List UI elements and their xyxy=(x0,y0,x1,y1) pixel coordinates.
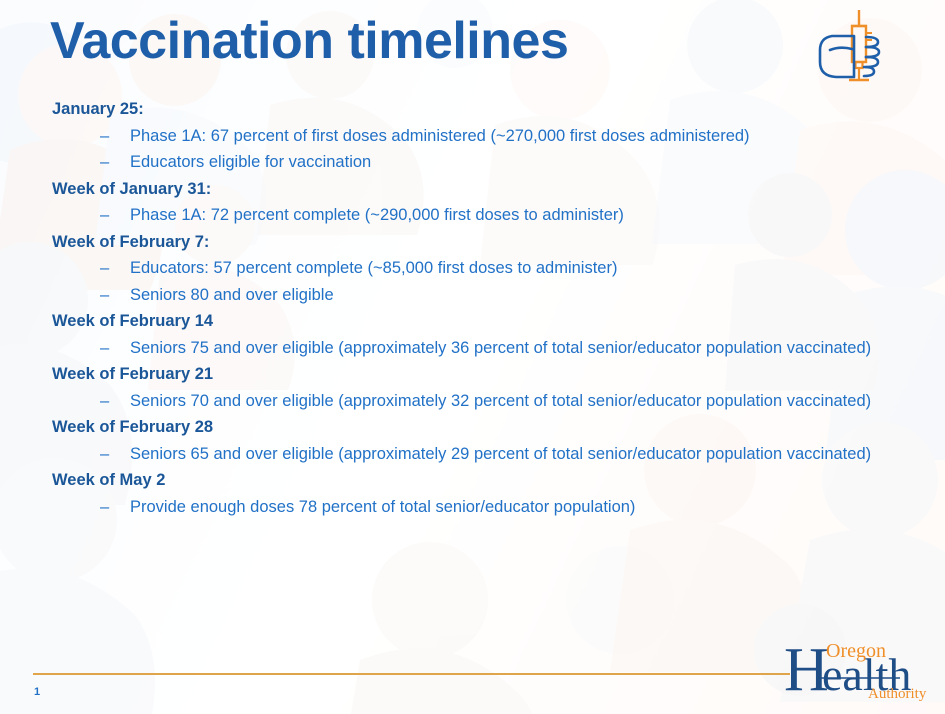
timeline-list: January 25:–Phase 1A: 67 percent of firs… xyxy=(52,96,902,521)
dash-bullet-icon: – xyxy=(100,388,109,414)
timeline-item-text: Seniors 80 and over eligible xyxy=(130,282,902,308)
page-number: 1 xyxy=(34,686,40,698)
hand-holding-syringe-icon xyxy=(814,6,892,84)
timeline-item-text: Seniors 70 and over eligible (approximat… xyxy=(130,388,902,414)
timeline-item: –Seniors 70 and over eligible (approxima… xyxy=(52,388,902,414)
timeline-group-heading: January 25: xyxy=(52,96,902,123)
timeline-group-heading: Week of February 7: xyxy=(52,229,902,256)
footer-divider xyxy=(33,673,790,675)
timeline-item: –Seniors 80 and over eligible xyxy=(52,282,902,308)
timeline-item-text: Phase 1A: 72 percent complete (~290,000 … xyxy=(130,202,902,228)
timeline-item-text: Provide enough doses 78 percent of total… xyxy=(130,494,902,520)
dash-bullet-icon: – xyxy=(100,494,109,520)
dash-bullet-icon: – xyxy=(100,255,109,281)
timeline-group: Week of May 2–Provide enough doses 78 pe… xyxy=(52,467,902,520)
dash-bullet-icon: – xyxy=(100,282,109,308)
timeline-item-text: Educators eligible for vaccination xyxy=(130,149,902,175)
dash-bullet-icon: – xyxy=(100,202,109,228)
timeline-group: January 25:–Phase 1A: 67 percent of firs… xyxy=(52,96,902,176)
timeline-group: Week of January 31:–Phase 1A: 72 percent… xyxy=(52,176,902,229)
logo-authority-text: Authority xyxy=(868,686,927,702)
slide: Vaccination timelines xyxy=(0,0,945,714)
oregon-health-authority-logo: H ealth Oregon Authority xyxy=(782,628,942,702)
timeline-item-text: Phase 1A: 67 percent of first doses admi… xyxy=(130,123,902,149)
dash-bullet-icon: – xyxy=(100,335,109,361)
timeline-group-heading: Week of February 14 xyxy=(52,308,902,335)
timeline-item: –Educators eligible for vaccination xyxy=(52,149,902,175)
timeline-item: –Seniors 75 and over eligible (approxima… xyxy=(52,335,902,361)
timeline-item: –Provide enough doses 78 percent of tota… xyxy=(52,494,902,520)
timeline-item: –Phase 1A: 72 percent complete (~290,000… xyxy=(52,202,902,228)
dash-bullet-icon: – xyxy=(100,149,109,175)
timeline-group: Week of February 21–Seniors 70 and over … xyxy=(52,361,902,414)
timeline-item: –Educators: 57 percent complete (~85,000… xyxy=(52,255,902,281)
timeline-group: Week of February 28–Seniors 65 and over … xyxy=(52,414,902,467)
logo-oregon-text: Oregon xyxy=(826,640,886,662)
timeline-item: –Phase 1A: 67 percent of first doses adm… xyxy=(52,123,902,149)
timeline-group-heading: Week of February 28 xyxy=(52,414,902,441)
dash-bullet-icon: – xyxy=(100,123,109,149)
timeline-group-heading: Week of February 21 xyxy=(52,361,902,388)
dash-bullet-icon: – xyxy=(100,441,109,467)
timeline-group: Week of February 14–Seniors 75 and over … xyxy=(52,308,902,361)
timeline-item-text: Educators: 57 percent complete (~85,000 … xyxy=(130,255,902,281)
timeline-item-text: Seniors 65 and over eligible (approximat… xyxy=(130,441,902,467)
timeline-group-heading: Week of May 2 xyxy=(52,467,902,494)
timeline-item-text: Seniors 75 and over eligible (approximat… xyxy=(130,335,902,361)
timeline-group-heading: Week of January 31: xyxy=(52,176,902,203)
page-title: Vaccination timelines xyxy=(50,12,568,72)
timeline-group: Week of February 7:–Educators: 57 percen… xyxy=(52,229,902,309)
timeline-item: –Seniors 65 and over eligible (approxima… xyxy=(52,441,902,467)
